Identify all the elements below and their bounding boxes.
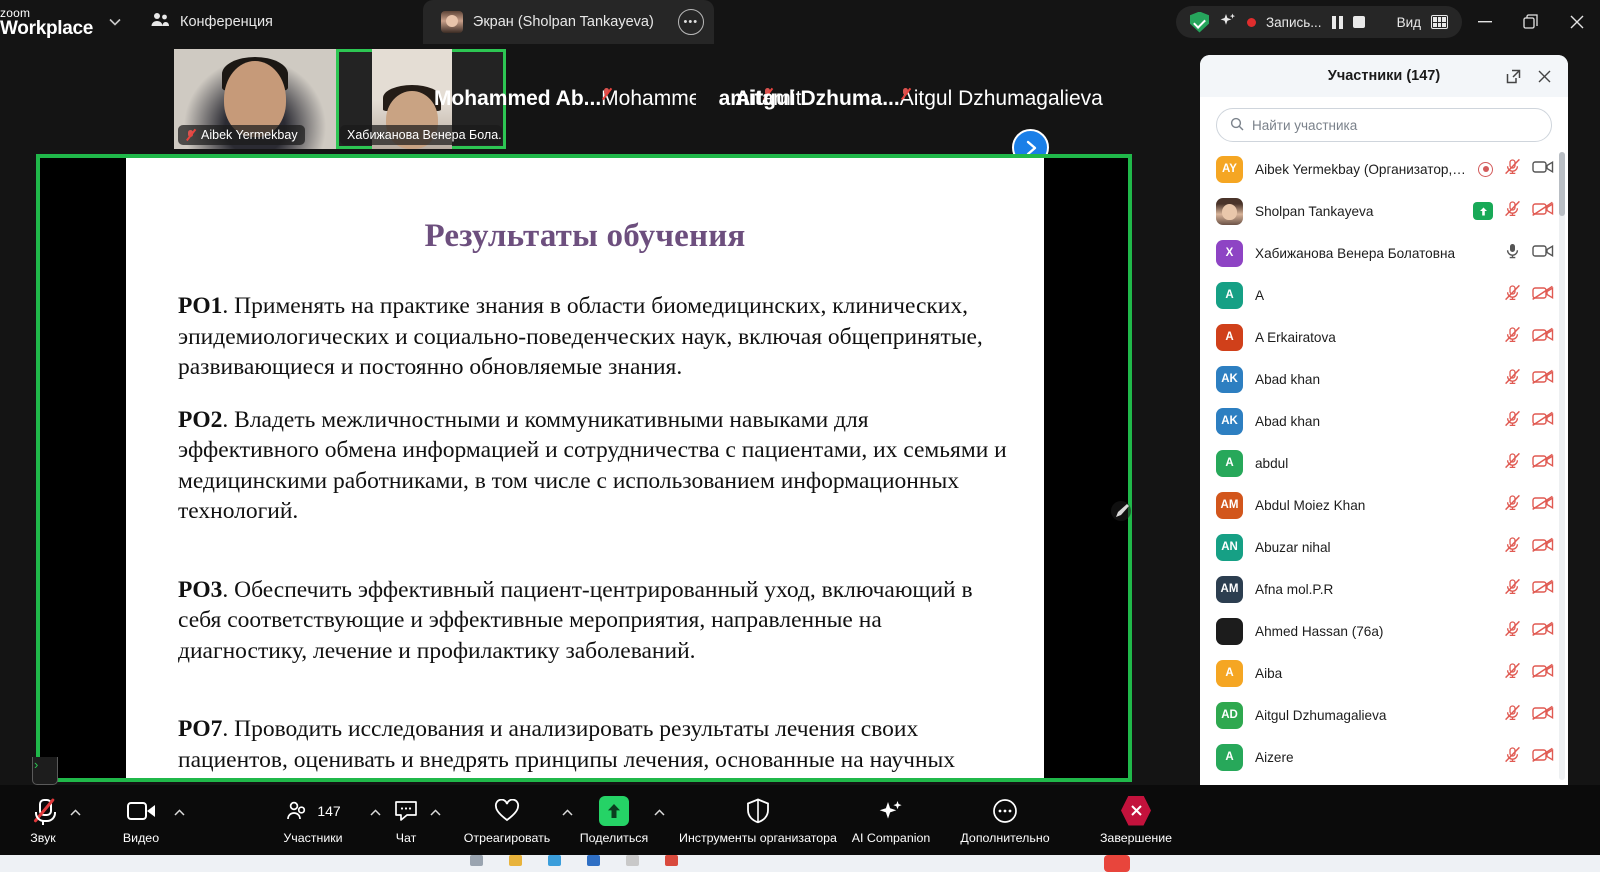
participant-avatar: A [1216,660,1243,687]
search-icon [1230,117,1244,134]
chevron-up-icon[interactable] [174,807,185,819]
camera-off-icon[interactable] [1532,495,1554,516]
toolbar-ai-companion-button[interactable]: AI Companion [846,785,936,855]
thumbnail-name-badge: Aitgul Dzhumagalieva [900,87,1103,111]
mic-off-icon[interactable] [1503,283,1522,307]
taskbar-icon[interactable] [470,855,483,866]
thumbnail-name-badge: Aibek Yermekbay [178,125,305,145]
participants-panel: Участники (147) Найт [1200,55,1568,840]
participant-name: Ahmed Hassan (76a) [1255,624,1491,639]
toolbar-label: Чат [396,831,417,845]
toolbar-react-button[interactable]: Отреагировать [448,785,566,855]
scrollbar-track[interactable] [1559,152,1565,780]
ellipsis-circle-icon [992,796,1018,826]
end-call-icon [1121,796,1151,826]
toolbar-label: AI Companion [852,831,931,845]
participant-row[interactable]: AYAibek Yermekbay (Организатор, я) [1200,148,1568,190]
mic-off-icon[interactable] [1503,493,1522,517]
close-icon[interactable] [1537,69,1552,84]
slide-paragraph-po3: PO3. Обеспечить эффективный пациент-цент… [178,575,1012,667]
thumbnail-name-badge: Хабижанова Венера Бола... [340,125,502,145]
screen-share-badge-icon [1473,202,1493,220]
participant-name: A [1255,288,1491,303]
stop-icon[interactable] [1353,16,1365,28]
sparkle-icon [878,796,904,826]
thumbnail-aitgul[interactable]: Aitgul Dzhuma... Aitgul Dzhumagalieva [824,49,1014,149]
participant-status-icons [1503,619,1554,643]
participants-title: Участники (147) [1328,68,1440,84]
zoom-logo-line2: Workplace [0,19,98,38]
tab-screen-share[interactable]: Экран (Sholpan Tankayeva) ••• [423,0,714,44]
participant-row[interactable]: AAiba [1200,652,1568,694]
grid-icon[interactable] [1431,15,1448,29]
participant-name: Aitgul Dzhumagalieva [1255,708,1491,723]
participant-name: abdul [1255,456,1491,471]
slide-paragraph-po1: PO1. Применять на практике знания в обла… [178,291,1012,383]
zoom-logo: zoom Workplace [0,7,98,38]
participant-name: Abad khan [1255,372,1491,387]
participant-status-icons [1503,367,1554,391]
camera-off-icon[interactable] [1532,327,1554,348]
taskbar-icon[interactable] [509,855,522,866]
participant-row[interactable]: AMAfna mol.P.R [1200,568,1568,610]
participant-avatar: A [1216,282,1243,309]
chevron-down-icon[interactable] [98,7,132,37]
recording-indicator-icon [1478,162,1493,177]
toolbar-label: Участники [283,831,342,845]
toolbar-participants-button[interactable]: 147Участники [252,785,374,855]
meeting-toolbar: ЗвукВидео147УчастникиЧатОтреагироватьПод… [0,785,1600,855]
participant-status-icons [1503,283,1554,307]
participant-name: Afna mol.P.R [1255,582,1491,597]
mic-off-icon[interactable] [1503,451,1522,475]
thumbnail-name: Хабижанова Венера Бола... [347,128,502,142]
people-icon: 147 [285,796,340,826]
restore-icon[interactable] [1508,0,1554,44]
participant-row[interactable]: Ahmed Hassan (76a) [1200,610,1568,652]
participant-status-icons [1503,325,1554,349]
camera-off-icon[interactable] [1532,537,1554,558]
camera-off-icon[interactable] [1532,285,1554,306]
participant-avatar [1216,198,1243,225]
participant-status-icons [1503,241,1554,265]
toolbar-end-button[interactable]: Завершение [1086,785,1186,855]
thumbnail-mohammed[interactable]: Mohammed Ab... Mohammed Abrar [506,49,696,149]
participant-row[interactable]: AAizere [1200,736,1568,778]
slide-tag: PO2 [178,407,222,433]
participant-status-icons [1503,745,1554,769]
participant-avatar [1216,618,1243,645]
share-screen-icon [599,796,629,826]
camera-off-icon[interactable] [1532,747,1554,768]
thumbnail-name: Aibek Yermekbay [201,128,298,142]
slide-tag: PO1 [178,293,222,319]
shared-screen-stage: Результаты обучения PO1. Применять на пр… [0,154,1196,785]
participant-name: Aiba [1255,666,1491,681]
tab-label: Конференция [180,14,273,30]
participant-avatar: AK [1216,408,1243,435]
popout-icon[interactable] [1505,68,1522,85]
participant-row[interactable]: AMAbdul Moiez Khan [1200,484,1568,526]
mic-off-icon[interactable] [1503,535,1522,559]
avatar [441,11,463,33]
mic-off-icon[interactable] [1503,199,1522,223]
mic-off-icon[interactable] [1503,745,1522,769]
participant-name: Sholpan Tankayeva [1255,204,1461,219]
slide-title: Результаты обучения [126,218,1044,255]
search-placeholder: Найти участника [1252,118,1357,133]
participant-name: A Erkairatova [1255,330,1491,345]
camera-on-icon[interactable] [1532,159,1554,180]
participant-row[interactable]: AKAbad khan [1200,400,1568,442]
video-thumbnail-strip: Aibek Yermekbay Хабижанова Венера Бола..… [0,44,1196,154]
participant-name: Abuzar nihal [1255,540,1491,555]
thumbnail-display-name: Mohammed Ab... [434,87,601,111]
participant-row[interactable]: ANAbuzar nihal [1200,526,1568,568]
view-label: Вид [1397,15,1421,30]
toolbar-more-button[interactable]: Дополнительно [950,785,1060,855]
participant-row[interactable]: Aabdul [1200,442,1568,484]
slide-tag: PO3 [178,577,222,603]
zoom-logo-line1: zoom [0,7,98,19]
chat-icon [393,796,419,826]
close-icon[interactable] [1554,0,1600,44]
share-expand-control[interactable]: › [32,757,58,785]
sparkle-icon[interactable] [1219,12,1237,33]
mic-off-icon [31,796,55,826]
chevron-up-icon[interactable] [654,807,665,819]
participant-avatar: AK [1216,366,1243,393]
participant-status-icons [1503,451,1554,475]
participant-row[interactable]: AKAbad khan [1200,358,1568,400]
participant-status-icons [1473,199,1554,223]
ellipsis-icon[interactable]: ••• [678,9,704,35]
mic-off-icon[interactable] [1503,409,1522,433]
tab-label: Экран (Sholpan Tankayeva) [473,14,654,30]
taskbar-icon[interactable] [587,855,600,866]
slide-text: . Применять на практике знания в области… [178,293,983,380]
participant-avatar: AY [1216,156,1243,183]
participants-search-wrap: Найти участника [1200,97,1568,148]
participant-row[interactable]: AA [1200,274,1568,316]
slide-paragraph-po7: PO7. Проводить исследования и анализиров… [178,714,1012,778]
toolbar-label: Поделиться [580,831,648,845]
scrollbar-thumb[interactable] [1559,152,1565,216]
camera-off-icon[interactable] [1532,201,1554,222]
thumbnail-name: Aitgul Dzhumagalieva [900,87,1103,110]
thumbnail-aibek[interactable]: Aibek Yermekbay [174,49,336,149]
mic-off-icon [185,129,196,142]
toolbar-host-tools-button[interactable]: Инструменты организатора [674,785,842,855]
windows-taskbar [0,855,1600,872]
heart-icon [494,796,520,826]
toolbar-label: Дополнительно [960,831,1049,845]
shield-check-icon[interactable] [1190,12,1209,33]
tab-conference[interactable]: Конференция [132,0,291,44]
slide-text: . Владеть межличностными и коммуникативн… [178,407,1007,525]
taskbar-icon[interactable] [665,855,678,866]
participants-list[interactable]: AYAibek Yermekbay (Организатор, я)Sholpa… [1200,148,1568,784]
participant-name: Хабижанова Венера Болатовна [1255,246,1491,261]
toolbar-label: Инструменты организатора [679,831,837,845]
toolbar-share-button[interactable]: Поделиться [570,785,658,855]
participant-status-icons [1478,157,1554,181]
participant-avatar: X [1216,240,1243,267]
participant-row[interactable]: XХабижанова Венера Болатовна [1200,232,1568,274]
recording-label: Запись... [1266,15,1322,30]
participant-status-icons [1503,493,1554,517]
people-icon [150,12,170,32]
camera-off-icon[interactable] [1532,663,1554,684]
participant-name: Abdul Moiez Khan [1255,498,1491,513]
camera-off-icon[interactable] [1532,369,1554,390]
participants-panel-header: Участники (147) [1200,55,1568,97]
title-bar: zoom Workplace Конференция Экран (Sholpa… [0,0,1600,44]
participant-status-icons [1503,535,1554,559]
slide-paragraph-po2: PO2. Владеть межличностными и коммуникат… [178,405,1012,527]
taskbar-icon[interactable] [626,855,639,866]
participant-count-badge: 147 [317,803,340,819]
pause-icon[interactable] [1332,16,1343,29]
mic-off-icon[interactable] [1503,157,1522,181]
mic-off-icon[interactable] [1503,619,1522,643]
toolbar-label: Завершение [1100,831,1172,845]
toolbar-label: Отреагировать [464,831,550,845]
participant-status-icons [1503,703,1554,727]
participant-status-icons [1503,409,1554,433]
mic-off-icon[interactable] [1503,325,1522,349]
mic-off-icon[interactable] [1503,661,1522,685]
mic-off-icon[interactable] [1503,703,1522,727]
participant-name: Aibek Yermekbay (Организатор, я) [1255,162,1466,177]
slide-tag: PO7 [178,716,222,742]
camera-off-icon[interactable] [1532,705,1554,726]
participant-avatar: AN [1216,534,1243,561]
toolbar-audio-button[interactable]: Звук [12,785,74,855]
slide-text: . Обеспечить эффективный пациент-центрир… [178,577,973,664]
shield-icon [746,796,770,826]
mic-on-icon[interactable] [1503,241,1522,265]
participant-avatar: A [1216,324,1243,351]
chevron-up-icon[interactable] [70,807,81,819]
zoom-meeting-window: zoom Workplace Конференция Экран (Sholpa… [0,0,1600,872]
toolbar-label: Звук [30,831,55,845]
title-bar-right: Запись... Вид [1176,0,1600,44]
camera-icon [127,796,155,826]
minimize-icon[interactable] [1462,0,1508,44]
mic-off-icon[interactable] [1503,577,1522,601]
participant-status-icons [1503,577,1554,601]
mic-off-icon[interactable] [1503,367,1522,391]
participant-avatar: AM [1216,576,1243,603]
taskbar-active-icon[interactable] [1104,855,1130,872]
participant-avatar: AD [1216,702,1243,729]
chevron-up-icon[interactable] [430,807,441,819]
recording-dot-icon [1247,18,1256,27]
taskbar-app-icons [470,855,678,866]
presentation-slide[interactable]: Результаты обучения PO1. Применять на пр… [126,158,1044,778]
camera-off-icon[interactable] [1532,453,1554,474]
taskbar-icon[interactable] [548,855,561,866]
slide-text: . Проводить исследования и анализировать… [178,716,955,778]
camera-off-icon[interactable] [1532,411,1554,432]
share-border: Результаты обучения PO1. Применять на пр… [36,154,1132,782]
toolbar-chat-button[interactable]: Чат [378,785,434,855]
participant-name: Abad khan [1255,414,1491,429]
thumbnail-display-name: Aitgul Dzhuma... [735,87,900,111]
participant-name: Aizere [1255,750,1491,765]
camera-on-icon[interactable] [1532,243,1554,264]
participant-row[interactable]: AA Erkairatova [1200,316,1568,358]
camera-off-icon[interactable] [1532,579,1554,600]
toolbar-label: Видео [123,831,159,845]
annotation-pen-cursor [1110,499,1134,523]
search-input[interactable]: Найти участника [1216,108,1552,142]
participant-row[interactable]: ADAitgul Dzhumagalieva [1200,694,1568,736]
meeting-status-pill: Запись... Вид [1176,6,1462,38]
camera-off-icon[interactable] [1532,621,1554,642]
participant-avatar: A [1216,450,1243,477]
participant-row[interactable]: Sholpan Tankayeva [1200,190,1568,232]
participant-avatar: AM [1216,492,1243,519]
participant-avatar: A [1216,744,1243,771]
toolbar-video-button[interactable]: Видео [104,785,178,855]
participant-status-icons [1503,661,1554,685]
